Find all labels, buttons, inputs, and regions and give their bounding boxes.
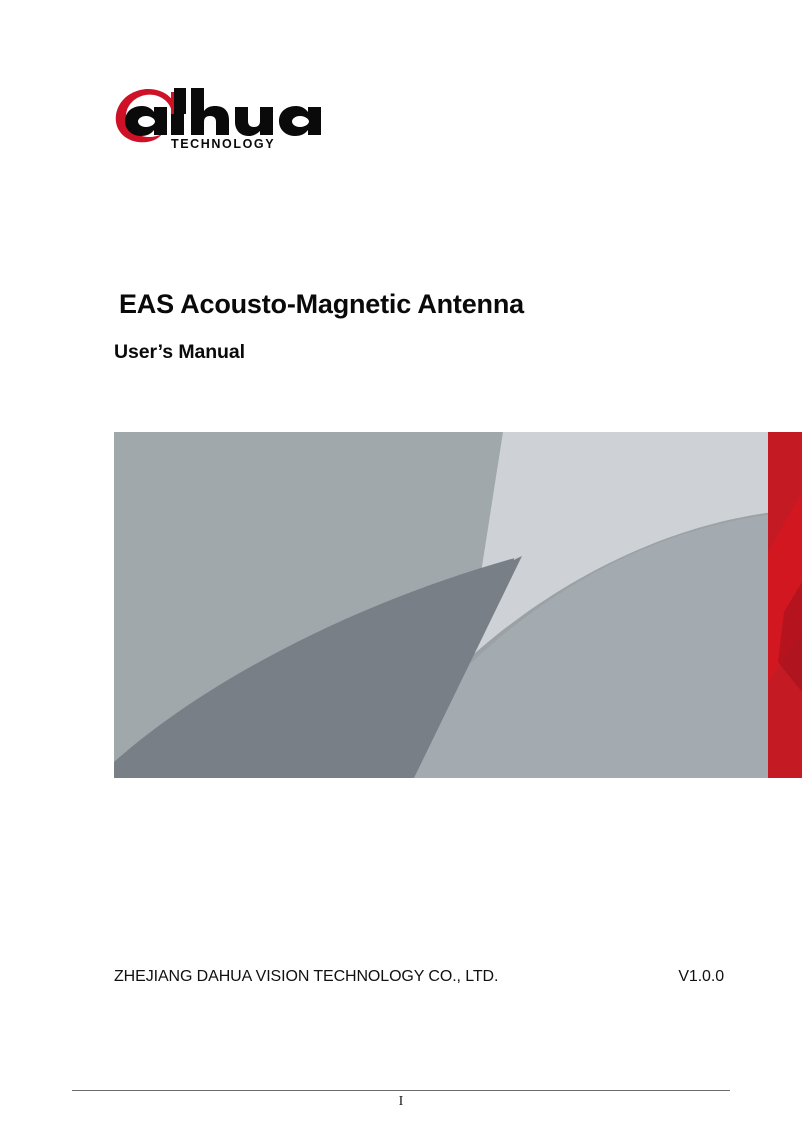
page-footer: I [72, 1090, 730, 1110]
logo-letters-lhua [171, 88, 321, 136]
cover-page: TECHNOLOGY EAS Acousto-Magnetic Antenna … [0, 0, 802, 1134]
cover-graphic [114, 432, 802, 778]
footer-divider [72, 1090, 730, 1091]
document-version: V1.0.0 [678, 968, 724, 986]
page-subtitle: User’s Manual [114, 341, 245, 364]
cover-red-bar [768, 432, 802, 778]
company-footer: ZHEJIANG DAHUA VISION TECHNOLOGY CO., LT… [114, 968, 724, 986]
company-name: ZHEJIANG DAHUA VISION TECHNOLOGY CO., LT… [114, 968, 498, 986]
page-number: I [72, 1094, 730, 1110]
dahua-logo: TECHNOLOGY [114, 84, 414, 150]
page-title: EAS Acousto-Magnetic Antenna [119, 289, 524, 320]
logo-letter-a [125, 106, 167, 136]
logo-tagline-text: TECHNOLOGY [171, 137, 275, 150]
